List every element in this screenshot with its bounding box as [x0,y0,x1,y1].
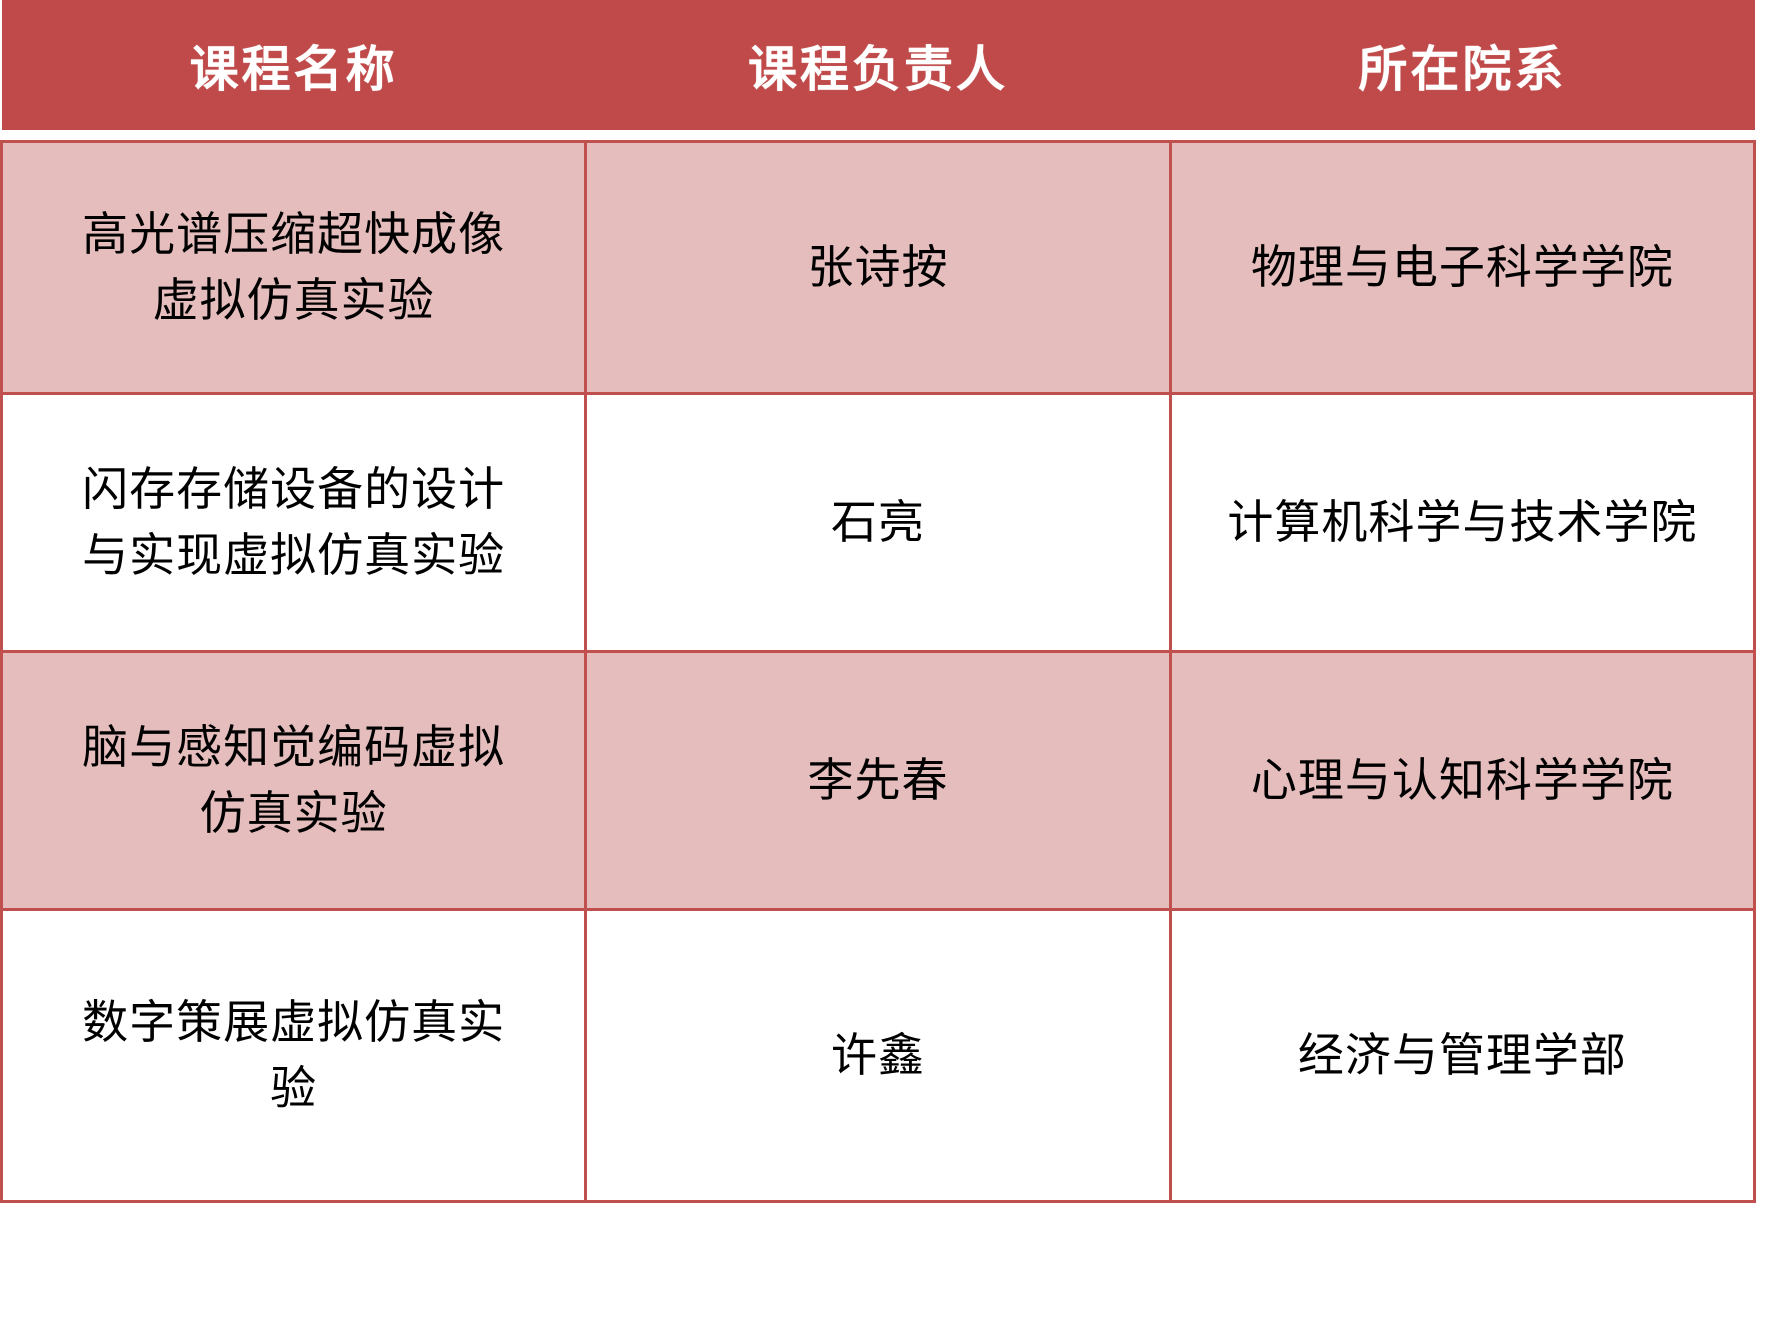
table-row[interactable]: 高光谱压缩超快成像 虚拟仿真实验 张诗按 物理与电子科学学院 [2,142,1755,394]
cell-course-leader: 石亮 [586,394,1170,652]
table-row[interactable]: 数字策展虚拟仿真实 验 许鑫 经济与管理学部 [2,910,1755,1202]
table-header-row: 课程名称 课程负责人 所在院系 [2,0,1755,130]
course-name-line-1: 高光谱压缩超快成像 [13,202,574,267]
table-row[interactable]: 脑与感知觉编码虚拟 仿真实验 李先春 心理与认知科学学院 [2,652,1755,910]
header-gap-cell-2 [586,130,1170,142]
header-gap-cell-3 [1170,130,1754,142]
cell-course-leader: 李先春 [586,652,1170,910]
course-name-line-2: 与实现虚拟仿真实验 [13,523,574,588]
course-table: 课程名称 课程负责人 所在院系 高光谱压缩超快成像 虚拟仿真实验 张诗按 物理与… [0,0,1756,1203]
column-header-department: 所在院系 [1170,0,1754,130]
course-name-line-2: 仿真实验 [13,781,574,846]
column-header-course-name: 课程名称 [2,0,586,130]
course-name-line-1: 闪存存储设备的设计 [13,457,574,522]
course-name-line-2: 验 [13,1056,574,1121]
cell-course-name: 数字策展虚拟仿真实 验 [2,910,586,1202]
course-name-line-1: 脑与感知觉编码虚拟 [13,715,574,780]
course-table-container: 课程名称 课程负责人 所在院系 高光谱压缩超快成像 虚拟仿真实验 张诗按 物理与… [0,0,1770,1333]
course-name-line-2: 虚拟仿真实验 [13,268,574,333]
cell-course-name: 脑与感知觉编码虚拟 仿真实验 [2,652,586,910]
cell-course-name: 高光谱压缩超快成像 虚拟仿真实验 [2,142,586,394]
table-row[interactable]: 闪存存储设备的设计 与实现虚拟仿真实验 石亮 计算机科学与技术学院 [2,394,1755,652]
cell-department: 计算机科学与技术学院 [1170,394,1754,652]
cell-course-name: 闪存存储设备的设计 与实现虚拟仿真实验 [2,394,586,652]
header-gap-cell-1 [2,130,586,142]
header-gap-row [2,130,1755,142]
cell-course-leader: 许鑫 [586,910,1170,1202]
column-header-course-leader: 课程负责人 [586,0,1170,130]
table-header: 课程名称 课程负责人 所在院系 [2,0,1755,130]
cell-department: 物理与电子科学学院 [1170,142,1754,394]
cell-department: 心理与认知科学学院 [1170,652,1754,910]
cell-department: 经济与管理学部 [1170,910,1754,1202]
table-body: 高光谱压缩超快成像 虚拟仿真实验 张诗按 物理与电子科学学院 闪存存储设备的设计… [2,130,1755,1202]
course-name-line-1: 数字策展虚拟仿真实 [13,990,574,1055]
cell-course-leader: 张诗按 [586,142,1170,394]
